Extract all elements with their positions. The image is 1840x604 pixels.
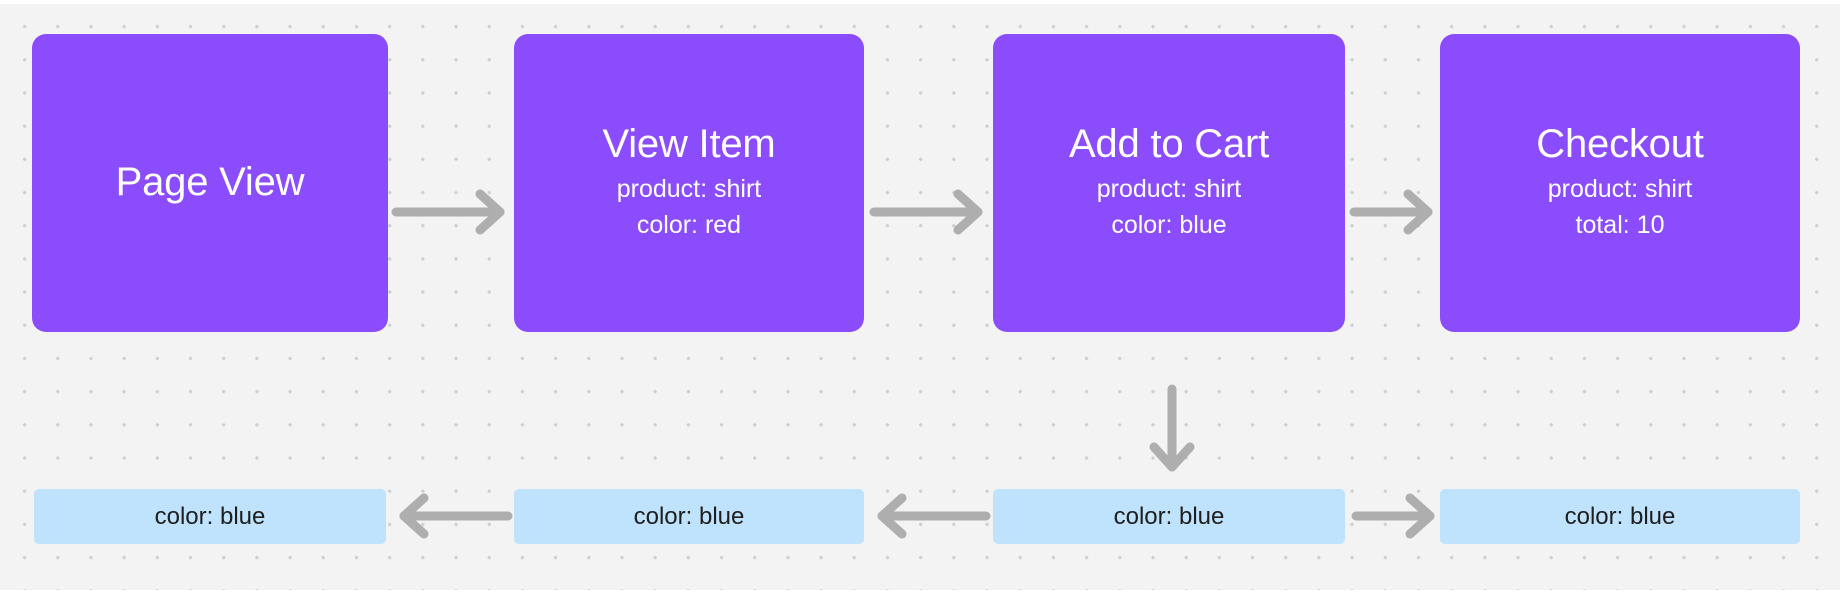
connector-add-to-cart-to-checkout-icon xyxy=(1350,190,1438,234)
property-chip-4[interactable]: color: blue xyxy=(1440,489,1800,544)
event-node-title: View Item xyxy=(602,123,775,166)
event-node-property: product: shirt xyxy=(1097,173,1242,207)
property-chip-2[interactable]: color: blue xyxy=(514,489,864,544)
flow-canvas[interactable]: Page View View Item product: shirt color… xyxy=(0,0,1840,604)
property-chip-label: color: blue xyxy=(1565,505,1676,529)
property-chip-label: color: blue xyxy=(155,505,266,529)
property-chip-label: color: blue xyxy=(1114,505,1225,529)
event-node-checkout[interactable]: Checkout product: shirt total: 10 xyxy=(1440,34,1800,332)
event-node-page-view[interactable]: Page View xyxy=(32,34,388,332)
property-chip-label: color: blue xyxy=(634,505,745,529)
canvas-bottom-edge xyxy=(0,590,1840,604)
event-node-properties: product: shirt color: blue xyxy=(1097,173,1242,243)
property-chip-3[interactable]: color: blue xyxy=(993,489,1345,544)
event-node-add-to-cart[interactable]: Add to Cart product: shirt color: blue xyxy=(993,34,1345,332)
event-node-property: product: shirt xyxy=(617,173,762,207)
event-node-title: Checkout xyxy=(1536,123,1703,166)
connector-property-3-to-property-4-icon xyxy=(1352,494,1440,538)
connector-view-item-to-add-to-cart-icon xyxy=(870,190,990,234)
canvas-top-edge xyxy=(0,0,1840,4)
connector-property-2-to-property-1-icon xyxy=(392,494,512,538)
event-node-properties: product: shirt color: red xyxy=(617,173,762,243)
event-node-title: Add to Cart xyxy=(1069,123,1269,166)
connector-property-3-to-property-2-icon xyxy=(870,494,990,538)
event-node-property: color: blue xyxy=(1111,209,1226,243)
event-node-property: total: 10 xyxy=(1576,209,1665,243)
event-node-view-item[interactable]: View Item product: shirt color: red xyxy=(514,34,864,332)
connector-page-view-to-view-item-icon xyxy=(392,190,512,234)
event-node-property: product: shirt xyxy=(1548,173,1693,207)
property-chip-1[interactable]: color: blue xyxy=(34,489,386,544)
event-node-property: color: red xyxy=(637,209,741,243)
event-node-properties: product: shirt total: 10 xyxy=(1548,173,1693,243)
event-node-title: Page View xyxy=(116,161,305,204)
connector-add-to-cart-to-property-icon xyxy=(1150,385,1194,477)
